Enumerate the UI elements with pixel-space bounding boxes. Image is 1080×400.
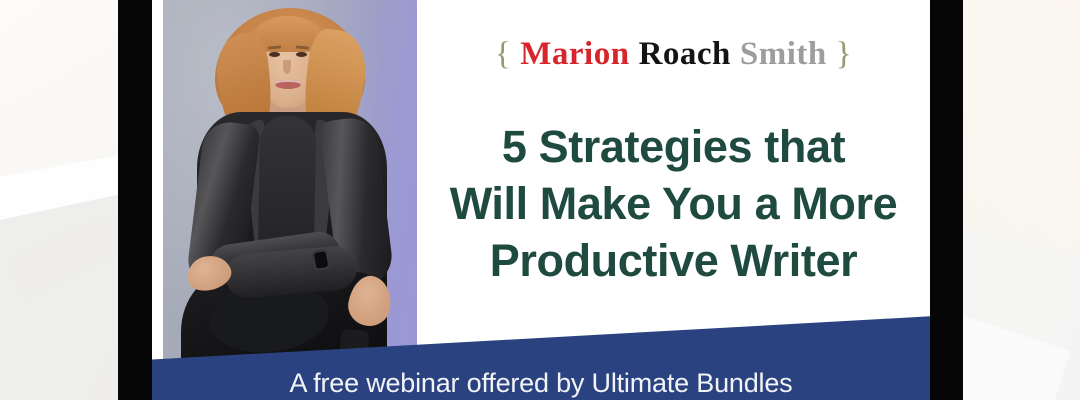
speaker-portrait-photo [163, 0, 417, 400]
slide-stage: {MarionRoachSmith} 5 Strategies that Wil… [0, 0, 1080, 400]
logo-last-name: Smith [740, 36, 827, 72]
headline-line-2: Will Make You a More [409, 175, 930, 232]
frame-band-right [930, 0, 963, 400]
logo-open-brace: { [495, 36, 511, 72]
figure-nose [283, 60, 291, 74]
brand-logo: {MarionRoachSmith} [417, 38, 930, 71]
figure-wristwatch [311, 249, 330, 271]
figure-eye-right [296, 52, 307, 57]
logo-close-brace: } [836, 36, 852, 72]
headline-line-1: 5 Strategies that [409, 118, 930, 175]
figure-eye-left [269, 52, 280, 57]
headline-line-3: Productive Writer [409, 232, 930, 289]
content-card: {MarionRoachSmith} 5 Strategies that Wil… [152, 0, 930, 400]
footer-banner-text: A free webinar offered by Ultimate Bundl… [152, 366, 930, 400]
page-title: 5 Strategies that Will Make You a More P… [409, 118, 930, 289]
logo-middle-name: Roach [639, 36, 731, 72]
frame-band-left [118, 0, 152, 400]
figure-mouth [275, 80, 301, 89]
logo-first-name: Marion [520, 36, 629, 72]
portrait-figure [163, 0, 417, 400]
